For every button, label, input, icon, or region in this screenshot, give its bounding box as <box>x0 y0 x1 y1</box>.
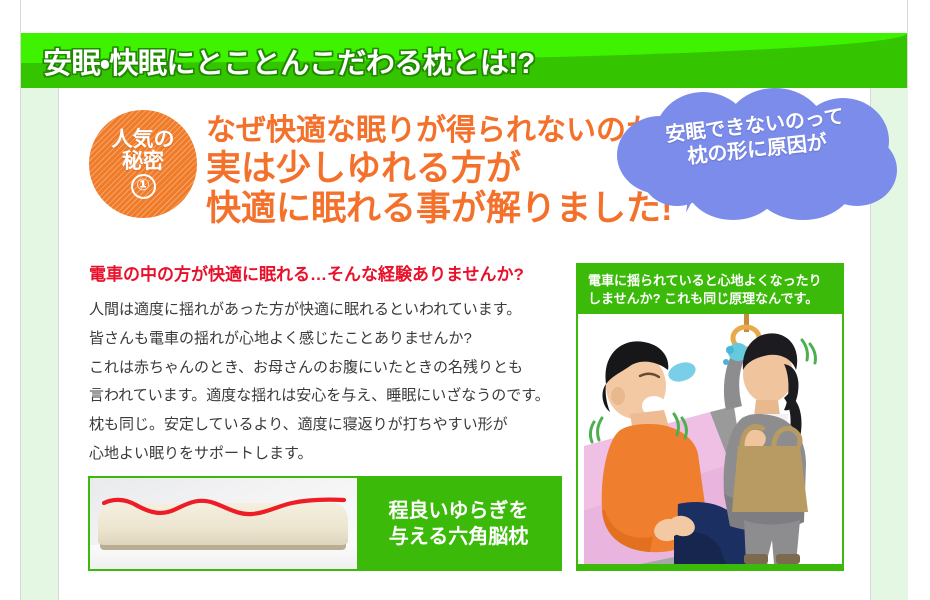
badge-line2: 秘密 <box>122 151 164 172</box>
badge-number: ① <box>131 174 156 199</box>
page-root: 安眠・快眠にとことんこだわる枕とは!? 人気の 秘密 ① なぜ快適な眠りが得られ… <box>0 0 930 600</box>
pillow-wave-line-icon <box>102 496 346 522</box>
illustration-caption-line2: しませんか? これも同じ原理なんです。 <box>588 290 842 308</box>
page-title: 安眠・快眠にとことんこだわる枕とは!? <box>43 40 535 82</box>
body-line: これは赤ちゃんのとき、お母さんのお腹にいたときの名残りとも <box>89 354 579 383</box>
top-white-strip <box>21 0 907 33</box>
headline-line2: 実は少しゆれる方が <box>206 149 674 190</box>
body-copy: 人間は適度に揺れがあった方が快適に眠れるといわれています。 皆さんも電車の揺れが… <box>89 296 579 469</box>
pillow-photo <box>90 478 357 569</box>
badge-line1: 人気の <box>112 129 175 150</box>
body-line: 心地よい眠りをサポートします。 <box>89 440 579 469</box>
main-headline: なぜ快適な眠りが得られないのか? 実は少しゆれる方が 快適に眠れる事が解りました… <box>206 114 674 230</box>
illustration-caption-line1: 電車に揺られていると心地よくなったり <box>588 272 842 290</box>
train-scene-illustration-icon <box>578 314 842 564</box>
body-line: 皆さんも電車の揺れが心地よく感じたことありませんか? <box>89 325 579 354</box>
product-label: 程良いゆらぎを 与える六角脳枕 <box>357 478 560 569</box>
headline-line1: なぜ快適な眠りが得られないのか? <box>206 114 674 149</box>
product-callout-box: 程良いゆらぎを 与える六角脳枕 <box>88 476 562 571</box>
body-line: 人間は適度に揺れがあった方が快適に眠れるといわれています。 <box>89 296 579 325</box>
content-area: 人気の 秘密 ① なぜ快適な眠りが得られないのか? 実は少しゆれる方が 快適に眠… <box>59 88 870 600</box>
product-label-line2: 与える六角脳枕 <box>389 524 529 550</box>
train-illustration-panel: 電車に揺られていると心地よくなったり しませんか? これも同じ原理なんです。 <box>576 263 844 571</box>
product-label-line1: 程良いゆらぎを <box>389 498 529 524</box>
headline-line3: 快適に眠れる事が解りました! <box>206 189 674 230</box>
body-line: 枕も同じ。安定しているより、適度に寝返りが打ちやすい形が <box>89 411 579 440</box>
header-bar: 安眠・快眠にとことんこだわる枕とは!? <box>21 33 907 88</box>
side-band-left <box>21 88 58 600</box>
body-line: 言われています。適度な揺れは安心を与え、睡眠にいざなうのです。 <box>89 382 579 411</box>
section-subheading: 電車の中の方が快適に眠れる…そんな経験ありませんか? <box>89 260 524 285</box>
illustration-art <box>578 314 842 564</box>
popularity-badge: 人気の 秘密 ① <box>89 110 197 218</box>
illustration-caption: 電車に揺られていると心地よくなったり しませんか? これも同じ原理なんです。 <box>578 265 842 314</box>
speech-bubble: 安眠できないのって 枕の形に原因が <box>611 88 901 223</box>
